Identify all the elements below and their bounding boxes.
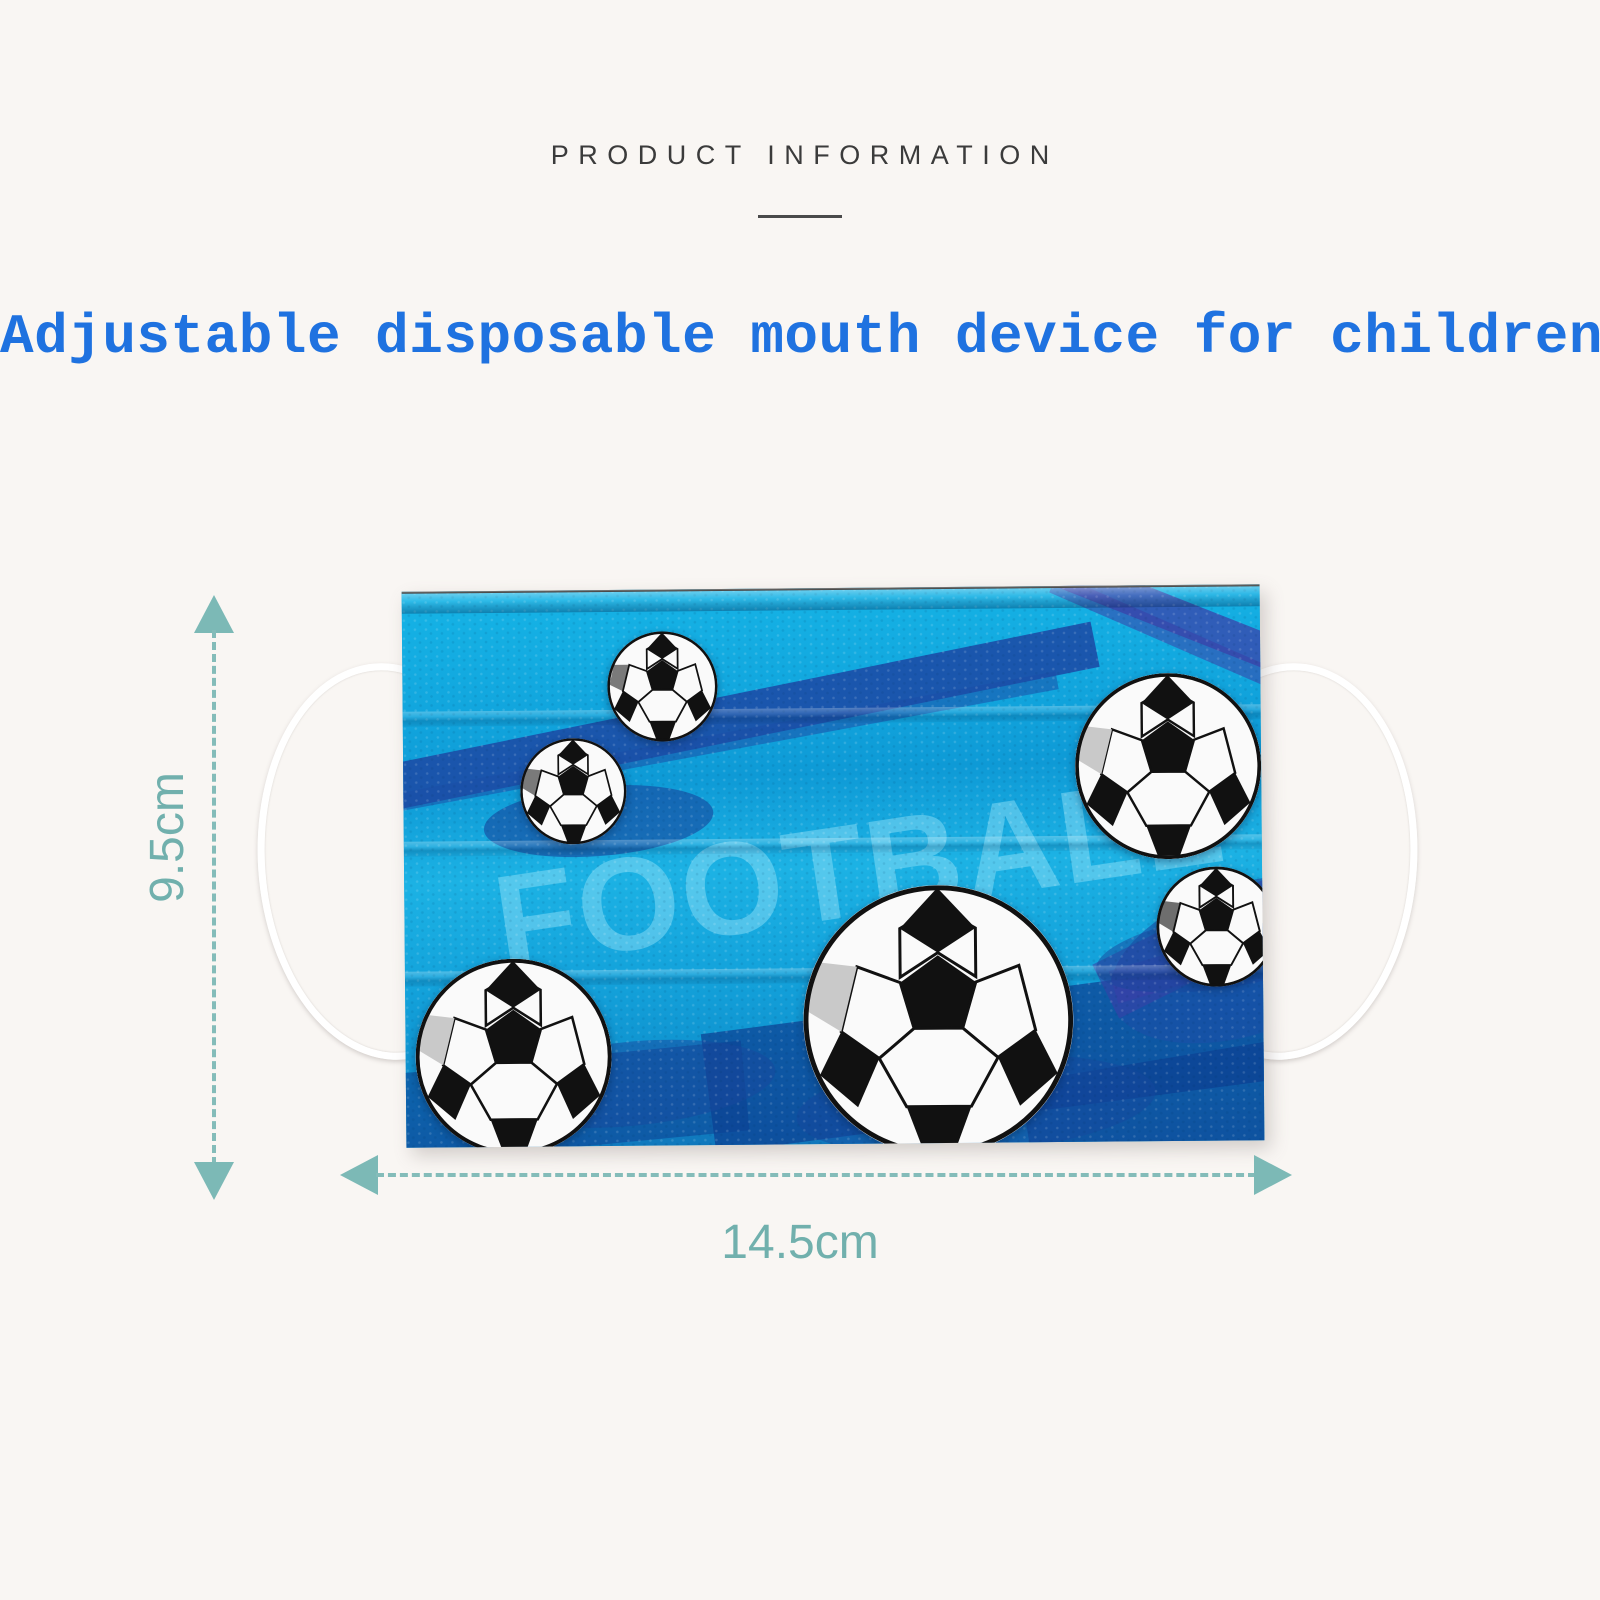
product-image-stage: FOOTBALL bbox=[0, 0, 1600, 1600]
soccer-ball-graphic bbox=[415, 958, 613, 1148]
soccer-ball-graphic bbox=[802, 884, 1074, 1148]
dimension-arrow-right bbox=[1254, 1155, 1292, 1195]
dimension-label-height: 9.5cm bbox=[140, 772, 195, 903]
dimension-label-width: 14.5cm bbox=[0, 1215, 1600, 1270]
soccer-ball-bottom-left bbox=[415, 958, 613, 1148]
dimension-line-vertical bbox=[212, 630, 216, 1165]
mask-print-area: FOOTBALL bbox=[402, 584, 1265, 1147]
soccer-ball-center-large bbox=[802, 884, 1074, 1148]
dimension-arrow-left bbox=[340, 1155, 378, 1195]
soccer-ball-mid-small bbox=[520, 738, 627, 845]
soccer-ball-graphic bbox=[607, 631, 718, 742]
dimension-line-horizontal bbox=[376, 1173, 1256, 1177]
soccer-ball-upper-small bbox=[607, 631, 718, 742]
soccer-ball-graphic bbox=[520, 738, 627, 845]
dimension-arrow-down bbox=[194, 1162, 234, 1200]
soccer-ball-upper-large bbox=[1074, 672, 1262, 860]
dimension-arrow-up bbox=[194, 595, 234, 633]
face-mask-body: FOOTBALL bbox=[402, 584, 1265, 1147]
soccer-ball-graphic bbox=[1074, 672, 1262, 860]
